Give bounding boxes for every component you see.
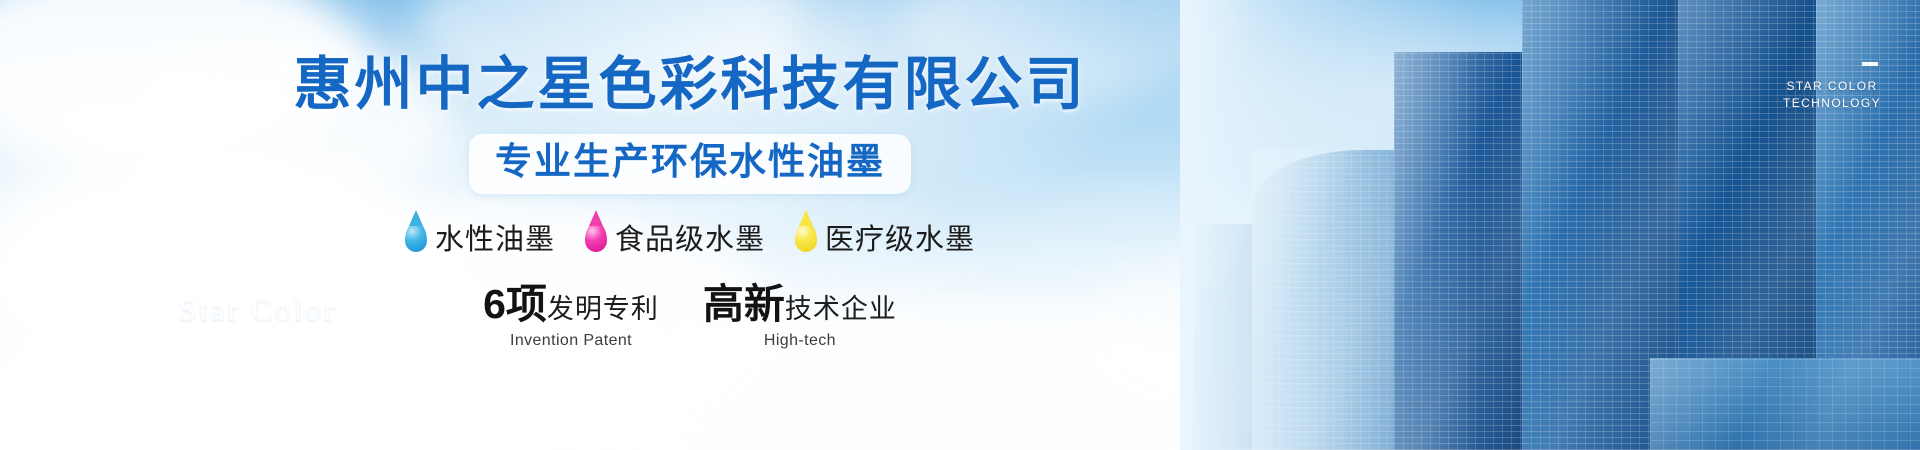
badge-strong-text: 高新 xyxy=(703,284,785,325)
feature-item: 食品级水墨 xyxy=(585,216,765,258)
feature-list: 水性油墨 食品级水墨 医疗级水墨 xyxy=(405,216,975,258)
building-marker xyxy=(1862,62,1878,66)
building-brand-line1: STAR COLOR xyxy=(1772,78,1892,95)
feature-label: 医疗级水墨 xyxy=(825,216,975,258)
feature-item: 水性油墨 xyxy=(405,216,555,258)
badge-high-tech: 高新 技术企业 High-tech xyxy=(703,284,897,350)
water-drop-cyan-icon xyxy=(405,222,427,252)
company-title: 惠州中之星色彩科技有限公司 xyxy=(293,56,1086,114)
feature-label: 食品级水墨 xyxy=(615,216,765,258)
badge-main-text: 高新 技术企业 xyxy=(703,284,897,325)
water-drop-magenta-icon xyxy=(585,222,607,252)
badge-subtitle: High-tech xyxy=(764,332,836,350)
tagline-text: 专业生产环保水性油墨 xyxy=(495,141,885,182)
banner-content: 惠州中之星色彩科技有限公司 专业生产环保水性油墨 水性油墨 食品级水墨 医疗级水… xyxy=(0,0,1380,450)
building-brand-line2: TECHNOLOGY xyxy=(1772,95,1892,112)
company-hero-banner: Star Color STAR COLOR TECHNOLOGY 惠州中之星色彩… xyxy=(0,0,1920,450)
credential-badges: 6项 发明专利 Invention Patent 高新 技术企业 High-te… xyxy=(483,284,897,350)
building-brand-label: STAR COLOR TECHNOLOGY xyxy=(1772,78,1892,112)
water-drop-yellow-icon xyxy=(795,222,817,252)
badge-subtitle: Invention Patent xyxy=(510,332,632,350)
tagline-pill: 专业生产环保水性油墨 xyxy=(469,134,911,194)
badge-rest-text: 发明专利 xyxy=(547,296,659,323)
building xyxy=(1650,358,1920,450)
badge-main-text: 6项 发明专利 xyxy=(483,284,659,325)
feature-item: 医疗级水墨 xyxy=(795,216,975,258)
feature-label: 水性油墨 xyxy=(435,216,555,258)
badge-invention-patent: 6项 发明专利 Invention Patent xyxy=(483,284,659,350)
badge-strong-text: 6项 xyxy=(483,284,547,325)
badge-rest-text: 技术企业 xyxy=(785,296,897,323)
